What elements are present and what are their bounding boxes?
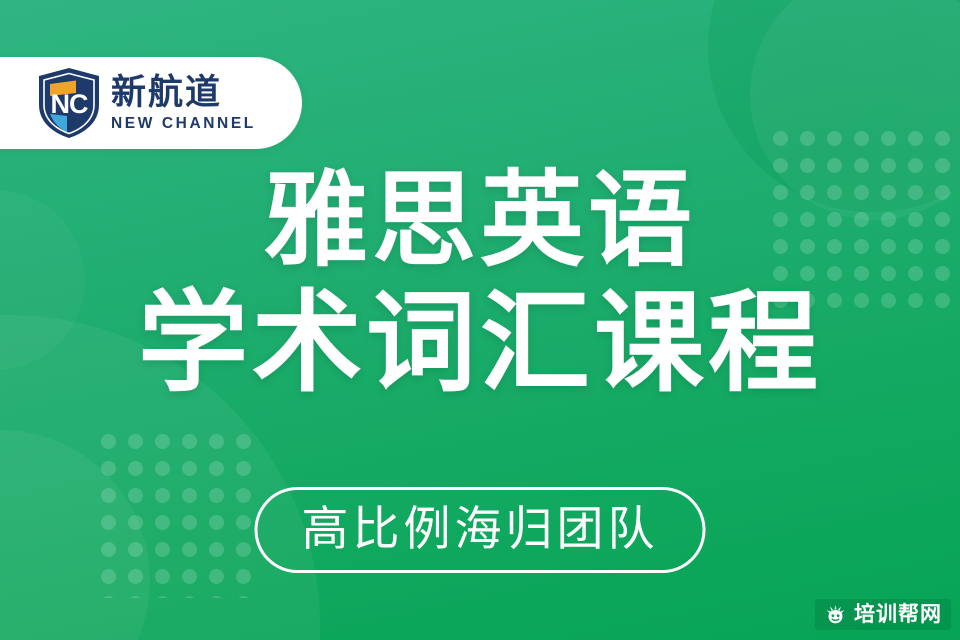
- sun-face-icon: [824, 603, 847, 626]
- subtitle-pill: 高比例海归团队: [255, 487, 706, 573]
- dot-grid-bottom-left: [95, 428, 260, 598]
- watermark-text: 培训帮网: [854, 603, 942, 626]
- brand-logo: NC 新航道 NEW CHANNEL: [36, 67, 256, 139]
- subtitle-text: 高比例海归团队: [302, 503, 659, 557]
- decorative-circle-bottom-left-inner: [0, 430, 150, 640]
- brand-name-en: NEW CHANNEL: [111, 115, 256, 133]
- headline-line-1: 雅思英语: [0, 160, 960, 280]
- shield-nc-icon: NC: [36, 67, 102, 139]
- brand-logo-pill: NC 新航道 NEW CHANNEL: [0, 57, 302, 149]
- headline-block: 雅思英语 学术词汇课程: [0, 160, 960, 406]
- course-promo-banner: NC 新航道 NEW CHANNEL 雅思英语 学术词汇课程 高比例海归团队: [0, 0, 960, 640]
- brand-wordmark: 新航道 NEW CHANNEL: [111, 74, 256, 133]
- watermark-badge: 培训帮网: [815, 599, 951, 630]
- brand-name-cn: 新航道: [111, 74, 256, 112]
- svg-text:NC: NC: [51, 89, 88, 119]
- headline-line-2: 学术词汇课程: [0, 280, 960, 406]
